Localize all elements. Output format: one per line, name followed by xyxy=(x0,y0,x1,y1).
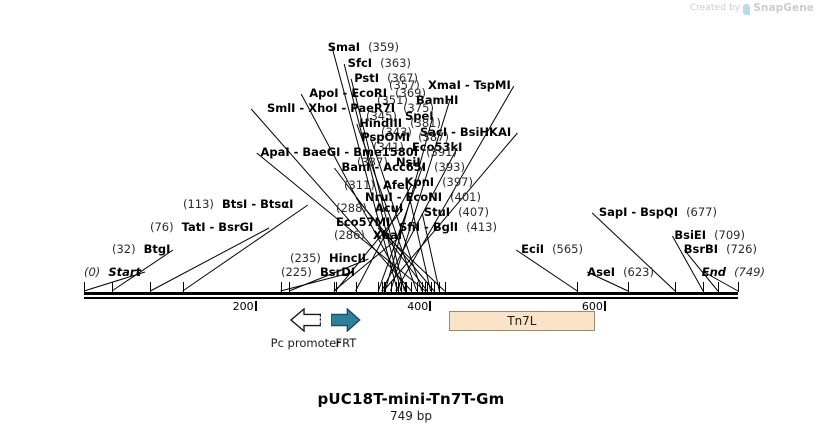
site-position: (359) xyxy=(368,40,399,54)
site-position: (407) xyxy=(458,205,489,219)
site-position: (113) xyxy=(183,197,214,211)
site-position: (393) xyxy=(434,160,465,174)
site-position: (235) xyxy=(290,251,321,265)
ruler-tick-label: 200 xyxy=(233,300,254,313)
cut-site-tick-BsiEI xyxy=(703,282,704,292)
snapgene-watermark: Created by SnapGene xyxy=(690,2,814,14)
site-label-BsiEI[interactable]: BsiEI (709) xyxy=(674,229,745,242)
site-name: EciI xyxy=(521,242,544,256)
site-name: SmaI xyxy=(328,40,360,54)
cut-site-tick-BtgI xyxy=(112,282,113,292)
cut-site-tick-SmaI xyxy=(398,282,399,292)
leader-line-TatI-BsrGI xyxy=(150,228,269,291)
site-name: AseI xyxy=(587,265,615,279)
site-name: SapI - BspQI xyxy=(599,205,678,219)
site-name: PstI xyxy=(354,71,379,85)
cut-site-tick-AcuI xyxy=(336,282,337,292)
site-name: End xyxy=(702,265,726,279)
site-position: (225) xyxy=(281,265,312,279)
site-label-Start[interactable]: (0) Start xyxy=(84,266,141,279)
site-position: (623) xyxy=(623,265,654,279)
site-position: (413) xyxy=(466,220,497,234)
site-label-SapI-BspQI[interactable]: SapI - BspQI (677) xyxy=(599,206,717,219)
site-label-EciI[interactable]: EciI (565) xyxy=(521,243,583,256)
site-position: (401) xyxy=(450,190,481,204)
feature-label-Pc promoter: Pc promoter xyxy=(271,336,341,350)
site-label-SmlI-XhoI-PaeR7I[interactable]: SmlI - XhoI - PaeR7I (375) xyxy=(267,102,434,115)
site-position: (76) xyxy=(150,220,174,234)
site-name: KpnI xyxy=(404,175,434,189)
site-label-PspOMI[interactable]: PspOMI (387) xyxy=(361,131,449,144)
site-label-AseI[interactable]: AseI (623) xyxy=(587,266,654,279)
cut-site-tick-HincII xyxy=(289,282,290,292)
site-name: Start xyxy=(108,265,141,279)
site-position: (369) xyxy=(395,86,426,100)
cut-site-tick-StuI xyxy=(439,282,440,292)
site-position: (387) xyxy=(418,130,449,144)
ruler-tick-mark xyxy=(429,301,431,311)
site-label-ApaI-BaeGI-Bme1580I[interactable]: ApaI - BaeGI - Bme1580I (391) xyxy=(260,146,457,159)
site-label-ApoI-EcoRI[interactable]: ApoI - EcoRI (369) xyxy=(309,87,426,100)
site-label-BanI-Acc65I[interactable]: BanI - Acc65I (393) xyxy=(341,161,465,174)
site-name: BsrBI xyxy=(684,242,718,256)
site-label-BtgI[interactable]: (32) BtgI xyxy=(112,243,170,256)
leader-line-SapI-BspQI xyxy=(592,213,675,291)
site-label-Eco57MI[interactable]: Eco57MI xyxy=(336,216,390,229)
ruler-tick-label: 400 xyxy=(407,300,428,313)
cut-site-tick-AfeI xyxy=(356,282,357,292)
page-title: pUC18T-mini-Tn7T-Gm xyxy=(0,390,822,408)
site-name: ApaI - BaeGI - Bme1580I xyxy=(260,145,418,159)
site-label-SmaI[interactable]: SmaI (359) xyxy=(328,41,399,54)
arrow-icon xyxy=(291,309,321,331)
cut-site-tick-Start xyxy=(84,282,85,292)
site-label-StuI[interactable]: StuI (407) xyxy=(424,206,489,219)
cut-site-tick-BamHI xyxy=(391,282,392,292)
cut-site-tick-EciI xyxy=(577,282,578,292)
cut-site-tick-KpnI xyxy=(431,282,432,292)
leader-line-EciI xyxy=(516,250,577,291)
site-name: BanI - Acc65I xyxy=(341,160,426,174)
cut-site-tick-End xyxy=(738,282,739,292)
feature-label: Tn7L xyxy=(507,314,536,328)
watermark-brand: SnapGene xyxy=(753,2,814,14)
cut-site-tick-BsrBI xyxy=(718,282,719,292)
snapgene-logo-icon xyxy=(743,4,750,15)
cut-site-tick-TatI-BsrGI xyxy=(150,282,151,292)
cut-site-tick-BsrDI xyxy=(281,282,282,292)
site-position: (709) xyxy=(714,228,745,242)
cut-site-tick-HindIII xyxy=(417,282,418,292)
feature-FRT[interactable] xyxy=(331,308,361,332)
site-name: BtsI - BtsαI xyxy=(222,197,293,211)
cut-site-tick-NruI-EcoNI xyxy=(434,282,435,292)
cut-site-tick-BtsI-BtsaI xyxy=(183,282,184,292)
site-name: BsiEI xyxy=(674,228,706,242)
site-name: SfiI - BglI xyxy=(399,220,458,234)
ruler-tick-mark xyxy=(255,301,257,311)
ruler-tick-400: 400 xyxy=(407,300,431,313)
site-label-SfiI-BglI[interactable]: SfiI - BglI (413) xyxy=(399,221,497,234)
site-name: BtgI xyxy=(144,242,171,256)
cut-site-tick-SpeI xyxy=(385,282,386,292)
arrow-icon xyxy=(331,309,360,331)
plasmid-map: Created by SnapGene (0) Start(32) BtgI(7… xyxy=(0,0,822,430)
watermark-prefix: Created by xyxy=(690,3,741,13)
site-label-TatI-BsrGI[interactable]: (76) TatI - BsrGI xyxy=(150,221,253,234)
site-position: (375) xyxy=(403,101,434,115)
site-position: (367) xyxy=(387,71,418,85)
site-label-XbaI[interactable]: (286) XbaI xyxy=(334,229,402,242)
cut-site-tick-NsiI xyxy=(378,282,379,292)
site-name: ApoI - EcoRI xyxy=(309,86,387,100)
site-name: XmaI - TspMI xyxy=(428,78,511,92)
feature-Tn7L[interactable]: Tn7L xyxy=(449,311,595,331)
sequence-backbone-line-lower xyxy=(84,297,738,299)
site-position: (677) xyxy=(686,205,717,219)
site-label-BtsI-BtsaI[interactable]: (113) BtsI - BtsαI xyxy=(183,198,293,211)
site-label-End[interactable]: End (749) xyxy=(702,266,765,279)
site-name: StuI xyxy=(424,205,450,219)
cut-site-tick-BanI-Acc65I xyxy=(427,282,428,292)
plasmid-length: 749 bp xyxy=(0,409,822,423)
site-name: SmlI - XhoI - PaeR7I xyxy=(267,101,395,115)
site-label-BsrBI[interactable]: BsrBI (726) xyxy=(684,243,757,256)
site-position: (749) xyxy=(734,265,765,279)
site-position: (363) xyxy=(380,56,411,70)
cut-site-tick-PspOMI xyxy=(422,282,423,292)
cut-site-tick-SfiI-BglI xyxy=(445,282,446,292)
site-label-BsrDI[interactable]: (225) BsrDI xyxy=(281,266,355,279)
site-name: HindIII xyxy=(359,116,402,130)
site-name: HincII xyxy=(329,251,366,265)
feature-Pc promoter[interactable] xyxy=(290,308,321,332)
cut-site-tick-ApoI-EcoRI xyxy=(406,282,407,292)
site-label-HincII[interactable]: (235) HincII xyxy=(290,252,366,265)
site-position: (0) xyxy=(84,265,100,279)
site-position: (288) xyxy=(336,201,367,215)
cut-site-tick-SfcI xyxy=(401,282,402,292)
site-label-SfcI[interactable]: SfcI (363) xyxy=(348,57,411,70)
site-position: (397) xyxy=(442,175,473,189)
site-name: TatI - BsrGI xyxy=(182,220,254,234)
site-position: (565) xyxy=(552,242,583,256)
site-label-HindIII[interactable]: HindIII (381) xyxy=(359,117,441,130)
sequence-backbone-line xyxy=(84,292,738,295)
site-label-PstI[interactable]: PstI (367) xyxy=(354,72,418,85)
site-label-NruI-EcoNI[interactable]: NruI - EcoNI (401) xyxy=(365,191,481,204)
cut-site-tick-SapI-BspQI xyxy=(675,282,676,292)
site-position: (286) xyxy=(334,228,365,242)
site-position: (726) xyxy=(726,242,757,256)
feature-label-FRT: FRT xyxy=(336,336,357,350)
cut-site-tick-AseI xyxy=(628,282,629,292)
site-position: (391) xyxy=(426,145,457,159)
site-position: (32) xyxy=(112,242,136,256)
site-position: (381) xyxy=(410,116,441,130)
site-name: PspOMI xyxy=(361,130,410,144)
ruler-tick-mark xyxy=(604,301,606,311)
site-name: Eco57MI xyxy=(336,215,390,229)
site-name: XbaI xyxy=(373,228,402,242)
site-name: SfcI xyxy=(348,56,372,70)
cut-site-tick-SmlI-XhoI-PaeR7I xyxy=(411,282,412,292)
site-name: BsrDI xyxy=(320,265,355,279)
site-name: NruI - EcoNI xyxy=(365,190,442,204)
ruler-tick-200: 200 xyxy=(233,300,257,313)
site-label-KpnI[interactable]: KpnI (397) xyxy=(404,176,473,189)
